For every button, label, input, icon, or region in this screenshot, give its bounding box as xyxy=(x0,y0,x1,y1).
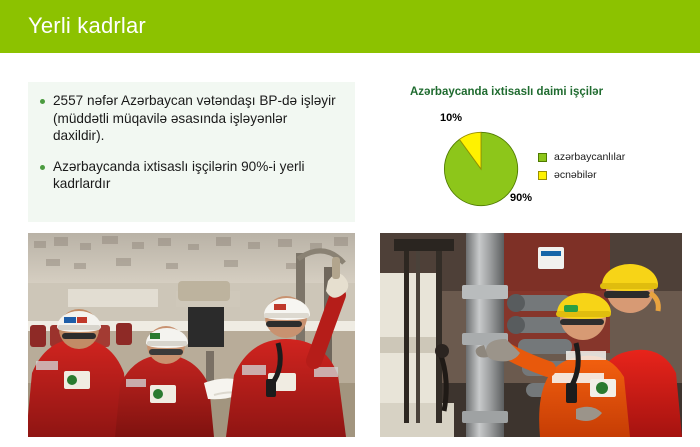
legend-swatch-yellow-icon xyxy=(538,171,547,180)
legend-item-azerbaycanlilar: azərbaycanlılar xyxy=(538,151,625,163)
bullet-item: Azərbaycanda ixtisaslı işçilərin 90%-i y… xyxy=(36,158,341,193)
photo-left xyxy=(28,233,355,437)
chart-legend: azərbaycanlılar əcnəbilər xyxy=(538,151,625,187)
legend-label: azərbaycanlılar xyxy=(554,151,625,163)
photo-right xyxy=(380,233,682,437)
slide-header-bar: Yerli kadrlar xyxy=(0,0,700,53)
bullet-item: 2557 nəfər Azərbaycan vətəndaşı BP-də iş… xyxy=(36,92,341,145)
pie-graphic xyxy=(442,130,520,208)
chart-title: Azərbaycanda ixtisaslı daimi işçilər xyxy=(410,86,603,98)
legend-item-ecnebiler: əcnəbilər xyxy=(538,169,625,181)
bullet-text: Azərbaycanda ixtisaslı işçilərin 90%-i y… xyxy=(53,158,341,193)
pie-label-ecnebiler: 10% xyxy=(440,112,462,124)
bullet-content-panel: 2557 nəfər Azərbaycan vətəndaşı BP-də iş… xyxy=(28,82,355,222)
bullet-dot-icon xyxy=(40,165,45,170)
pie-chart-block: Azərbaycanda ixtisaslı daimi işçilər 10%… xyxy=(383,86,683,222)
slide-title: Yerli kadrlar xyxy=(28,13,146,39)
legend-label: əcnəbilər xyxy=(554,169,597,181)
bullet-dot-icon xyxy=(40,99,45,104)
bullet-text: 2557 nəfər Azərbaycan vətəndaşı BP-də iş… xyxy=(53,92,341,145)
legend-swatch-green-icon xyxy=(538,153,547,162)
